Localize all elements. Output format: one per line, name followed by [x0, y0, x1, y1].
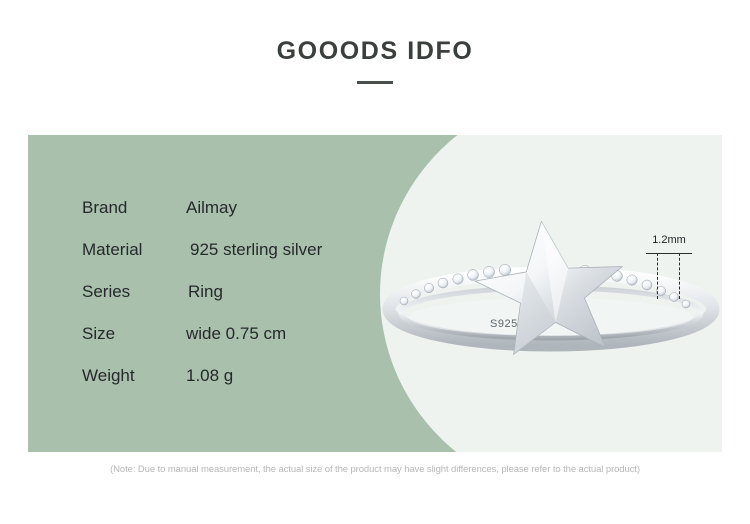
spec-value-size: wide 0.75 cm [186, 323, 286, 345]
measurement-footnote: (Note: Due to manual measurement, the ac… [0, 463, 750, 477]
spec-label-series: Series [82, 281, 130, 303]
page-title: GOOODS IDFO [0, 36, 750, 66]
spec-row-brand: Brand Ailmay [82, 197, 412, 239]
dimension-callout: 1.2mm [626, 233, 712, 305]
dimension-leader-left [657, 253, 658, 299]
spec-row-material: Material 925 sterling silver [82, 239, 412, 281]
title-divider-rule [357, 81, 393, 84]
spec-value-series: Ring [188, 281, 223, 303]
spec-row-series: Series Ring [82, 281, 412, 323]
hallmark-s925: S925 [490, 318, 518, 330]
spec-value-brand: Ailmay [186, 197, 237, 219]
spec-label-material: Material [82, 239, 142, 261]
spec-label-size: Size [82, 323, 115, 345]
specification-panel: Brand Ailmay Material 925 sterling silve… [28, 135, 722, 452]
dimension-top-line [646, 253, 692, 254]
svg-text:S925: S925 [490, 318, 518, 330]
dimension-leader-right [679, 253, 680, 299]
spec-label-brand: Brand [82, 197, 127, 219]
spec-label-weight: Weight [82, 365, 135, 387]
spec-value-weight: 1.08 g [186, 365, 233, 387]
spec-row-weight: Weight 1.08 g [82, 365, 412, 407]
dimension-label: 1.2mm [626, 233, 712, 247]
title-block: GOOODS IDFO [0, 36, 750, 84]
spec-row-size: Size wide 0.75 cm [82, 323, 412, 365]
spec-value-material: 925 sterling silver [190, 239, 322, 261]
specification-list: Brand Ailmay Material 925 sterling silve… [82, 197, 412, 407]
